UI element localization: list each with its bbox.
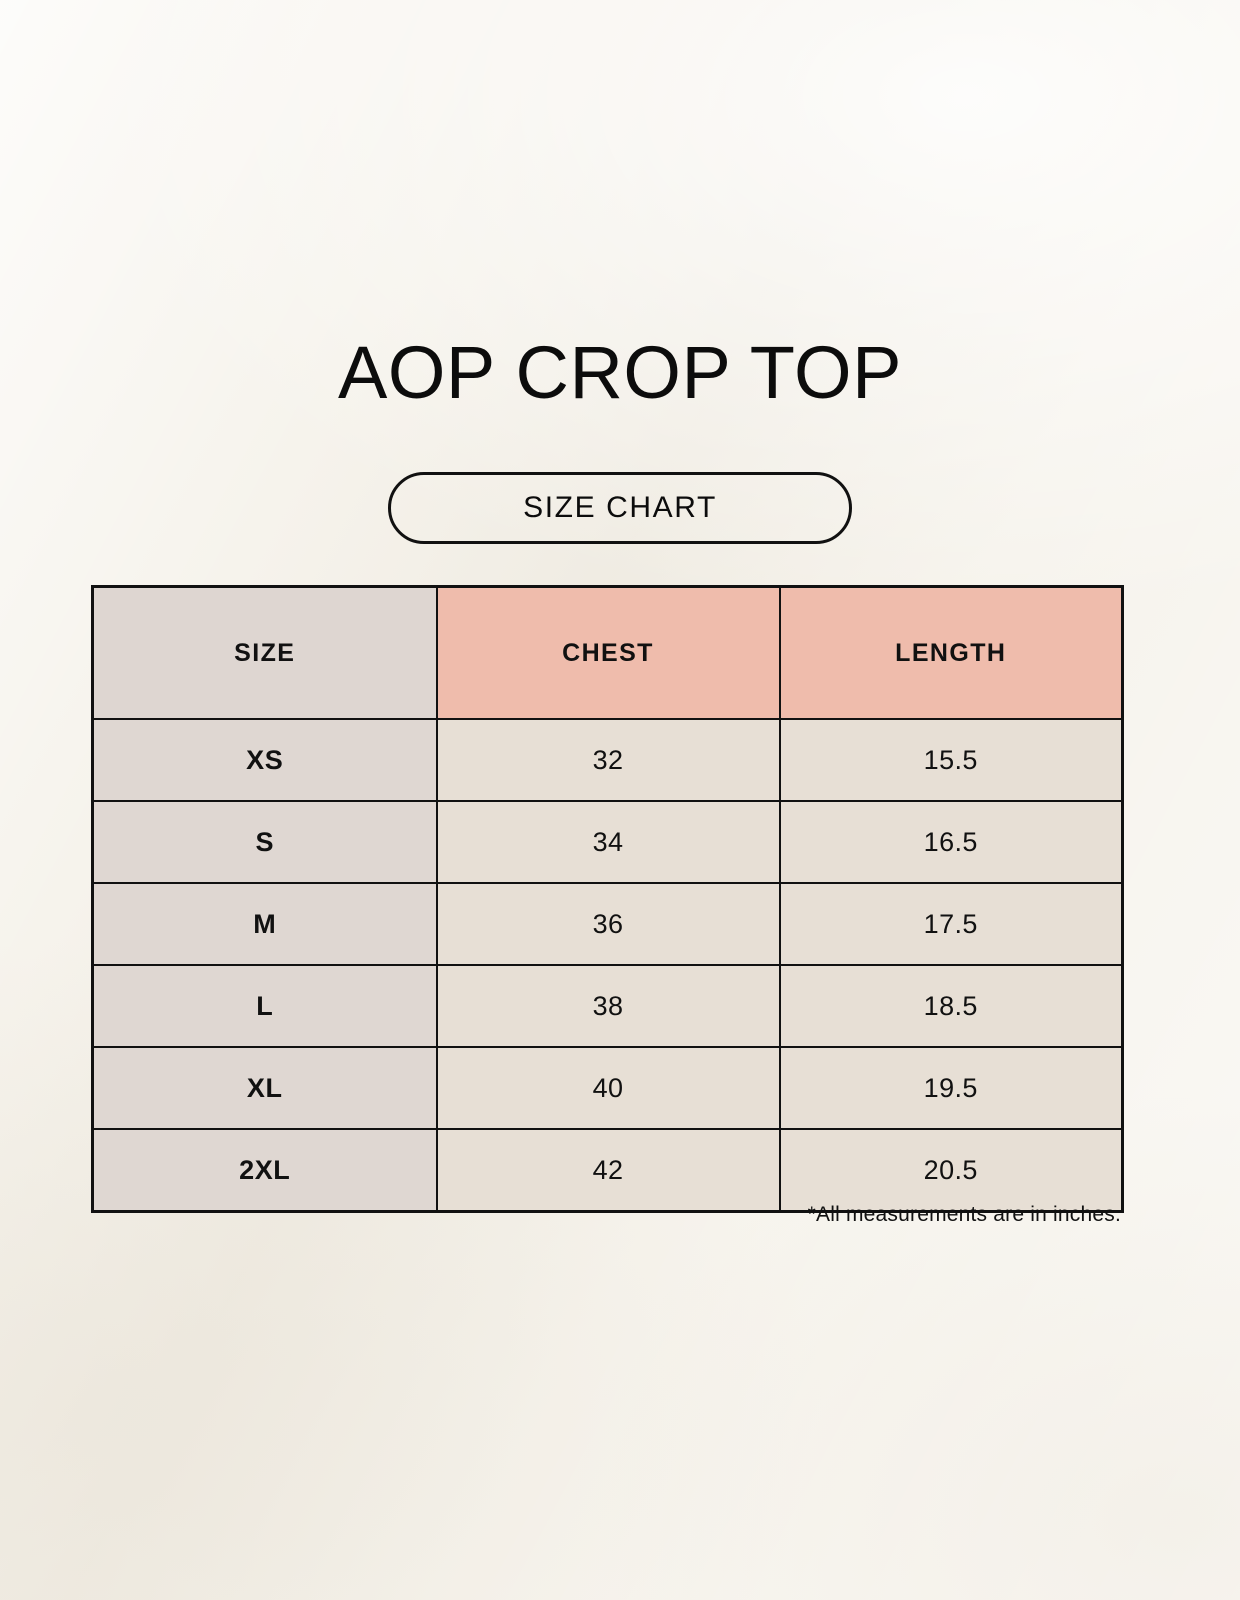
cell-length: 19.5	[780, 1047, 1123, 1129]
cell-length: 15.5	[780, 719, 1123, 801]
column-header-size: SIZE	[93, 587, 437, 720]
cell-chest: 32	[437, 719, 780, 801]
size-table: SIZE CHEST LENGTH XS 32 15.5 S 34 16.5 M	[91, 585, 1124, 1213]
cell-length: 16.5	[780, 801, 1123, 883]
cell-length: 20.5	[780, 1129, 1123, 1212]
cell-size: S	[93, 801, 437, 883]
table-header-row: SIZE CHEST LENGTH	[93, 587, 1123, 720]
cell-chest: 34	[437, 801, 780, 883]
table-row: XS 32 15.5	[93, 719, 1123, 801]
size-chart-badge-label: SIZE CHART	[523, 491, 717, 525]
cell-size: L	[93, 965, 437, 1047]
page-title: AOP CROP TOP	[0, 336, 1240, 410]
cell-chest: 42	[437, 1129, 780, 1212]
size-table-header: SIZE CHEST LENGTH	[93, 587, 1123, 720]
table-row: S 34 16.5	[93, 801, 1123, 883]
size-chart-badge: SIZE CHART	[388, 472, 852, 544]
cell-length: 18.5	[780, 965, 1123, 1047]
size-table-body: XS 32 15.5 S 34 16.5 M 36 17.5 L 38	[93, 719, 1123, 1212]
table-row: XL 40 19.5	[93, 1047, 1123, 1129]
cell-chest: 36	[437, 883, 780, 965]
cell-length: 17.5	[780, 883, 1123, 965]
size-chart-page: AOP CROP TOP SIZE CHART SIZE CHEST LENGT…	[0, 0, 1240, 1600]
column-header-chest: CHEST	[437, 587, 780, 720]
table-row: 2XL 42 20.5	[93, 1129, 1123, 1212]
table-row: L 38 18.5	[93, 965, 1123, 1047]
column-header-length: LENGTH	[780, 587, 1123, 720]
size-table-container: SIZE CHEST LENGTH XS 32 15.5 S 34 16.5 M	[91, 585, 1121, 1213]
measurement-unit-note: *All measurements are in inches.	[91, 1203, 1121, 1227]
cell-size: M	[93, 883, 437, 965]
cell-chest: 40	[437, 1047, 780, 1129]
table-row: M 36 17.5	[93, 883, 1123, 965]
cell-size: XL	[93, 1047, 437, 1129]
cell-size: XS	[93, 719, 437, 801]
cell-size: 2XL	[93, 1129, 437, 1212]
cell-chest: 38	[437, 965, 780, 1047]
